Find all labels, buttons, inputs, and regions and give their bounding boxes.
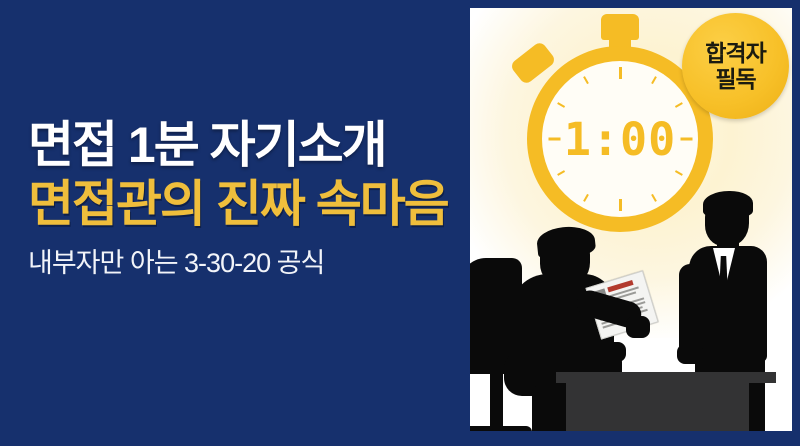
badge-line-1: 합격자 [705, 40, 765, 66]
status-badge: 합격자 필독 [682, 13, 789, 119]
interviewer-hand-lower [600, 342, 626, 362]
interviewer-hand [626, 316, 650, 338]
headline-primary: 면접 1분 자기소개 [28, 116, 498, 174]
copy-block: 면접 1분 자기소개 면접관의 진짜 속마음 내부자만 아는 3-30-20 공… [28, 116, 498, 280]
stopwatch-time-display: 1:00 [542, 117, 698, 162]
candidate-hand [677, 344, 703, 364]
stopwatch-crown-icon [601, 14, 639, 40]
subheadline: 내부자만 아는 3-30-20 공식 [28, 246, 498, 280]
desk-front [566, 381, 749, 438]
badge-line-2: 필독 [715, 66, 755, 92]
headline-secondary: 면접관의 진짜 속마음 [28, 174, 498, 234]
desk [556, 372, 776, 438]
panel-floor-strip [470, 431, 792, 438]
banner-image: 1:00 [0, 0, 800, 446]
